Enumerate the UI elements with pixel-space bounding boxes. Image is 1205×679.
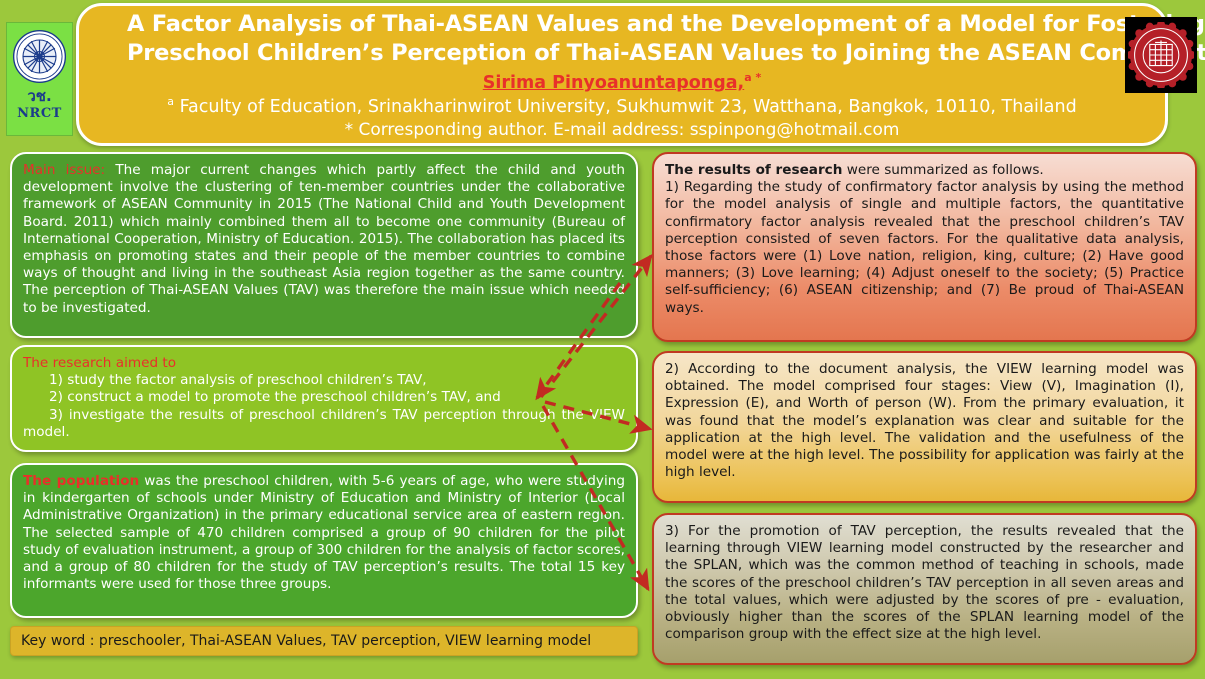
page-title-line-2: Preschool Children’s Perception of Thai-… [127, 39, 1117, 68]
author-affiliation-marks: a * [744, 71, 761, 84]
nrct-thai-abbreviation: วช. [27, 89, 51, 104]
results-of-research-box: The results of research were summarized … [652, 152, 1197, 342]
author-block: Sirima Pinyoanuntaponga,a * [127, 71, 1117, 95]
results-text: 1) Regarding the study of confirmatory f… [665, 179, 1184, 315]
affiliation-line: a Faculty of Education, Srinakharinwirot… [127, 95, 1117, 119]
main-issue-box: Main issue: The major current changes wh… [10, 152, 638, 338]
population-label: The population [23, 473, 139, 489]
view-model-box: 2) According to the document analysis, t… [652, 351, 1197, 503]
list-item: 1) study the factor analysis of preschoo… [23, 372, 625, 389]
list-item: 3) investigate the results of preschool … [23, 407, 625, 441]
promotion-text: 3) For the promotion of TAV perception, … [665, 523, 1184, 642]
results-label: The results of research [665, 162, 842, 178]
university-seal-icon [1128, 22, 1194, 88]
corresponding-author-line: * Corresponding author. E-mail address: … [127, 119, 1117, 141]
srinakharinwirot-university-logo [1125, 17, 1197, 93]
results-intro: were summarized as follows. [842, 162, 1043, 178]
view-model-text: 2) According to the document analysis, t… [665, 361, 1184, 480]
population-text: was the preschool children, with 5-6 yea… [23, 473, 625, 592]
page-title-line-1: A Factor Analysis of Thai-ASEAN Values a… [127, 10, 1117, 39]
main-issue-text: The major current changes which partly a… [23, 162, 625, 316]
population-box: The population was the preschool childre… [10, 463, 638, 618]
nrct-logo: วช. NRCT [6, 22, 73, 136]
list-item: 2) construct a model to promote the pres… [23, 389, 625, 406]
affiliation-text: Faculty of Education, Srinakharinwirot U… [180, 97, 1077, 117]
main-issue-label: Main issue: [23, 162, 105, 178]
research-aims-label: The research aimed to [23, 355, 625, 372]
right-column: The results of research were summarized … [652, 152, 1197, 665]
keywords-bar: Key word : preschooler, Thai-ASEAN Value… [10, 626, 638, 656]
header-text-block: A Factor Analysis of Thai-ASEAN Values a… [127, 10, 1117, 141]
research-aims-list: 1) study the factor analysis of preschoo… [23, 372, 625, 441]
research-aims-box: The research aimed to 1) study the facto… [10, 345, 638, 452]
affiliation-superscript: a [167, 95, 174, 108]
nrct-seal-icon [12, 29, 67, 84]
results-heading-line: The results of research were summarized … [665, 162, 1184, 179]
nrct-english-abbreviation: NRCT [17, 107, 62, 120]
poster-header: A Factor Analysis of Thai-ASEAN Values a… [76, 3, 1168, 146]
tav-promotion-box: 3) For the promotion of TAV perception, … [652, 513, 1197, 665]
left-column: Main issue: The major current changes wh… [10, 152, 638, 656]
author-name: Sirima Pinyoanuntaponga, [483, 72, 744, 92]
